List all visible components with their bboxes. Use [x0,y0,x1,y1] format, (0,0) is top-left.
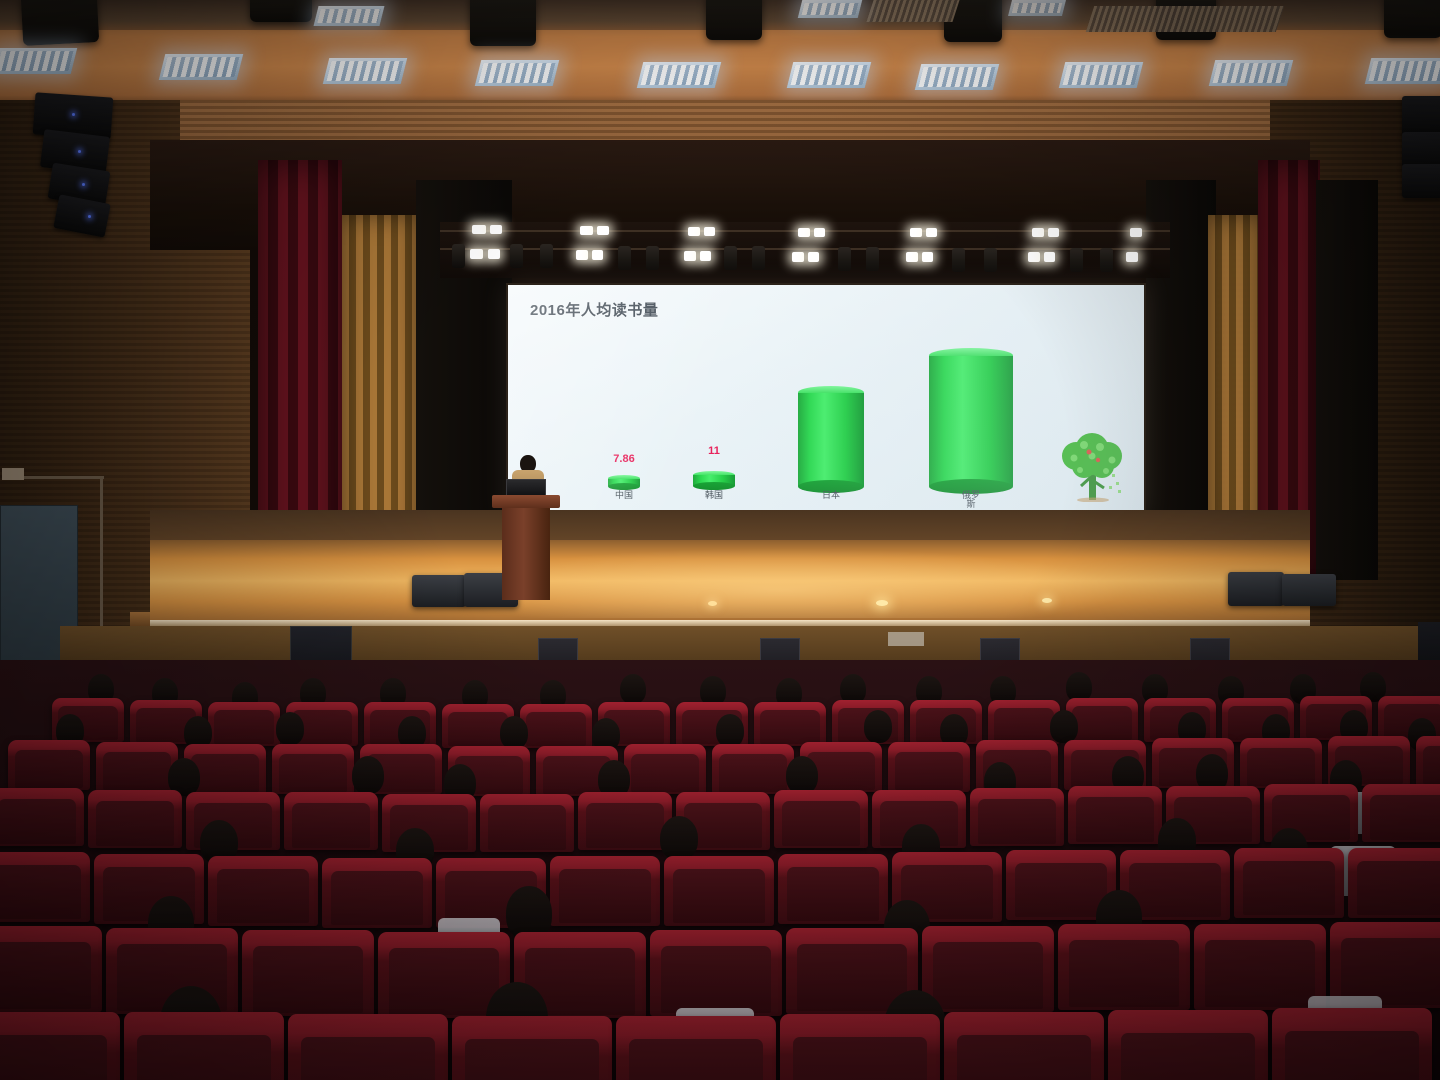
stage-lamp [1028,252,1040,262]
speaker-led [78,150,81,153]
stage-lamp [700,251,711,261]
bar-cylinder [693,471,735,486]
stage-lamp [926,228,937,237]
theater-seat[interactable] [664,856,774,926]
theater-seat[interactable] [650,930,782,1016]
stage-lamp [906,252,918,262]
theater-seat[interactable] [1058,924,1190,1010]
theater-seat[interactable] [1108,1010,1268,1080]
stage-lamp [814,228,825,237]
ceiling-light-panel [1008,0,1066,16]
stage-light-fixture [724,246,737,270]
gold-curtain-right [1208,215,1262,560]
ceiling-light-panel [314,6,385,26]
theater-seat[interactable] [452,1016,612,1080]
bar-category-label: 中国 [611,491,637,500]
ceiling-duct [706,0,762,40]
podium-top [492,495,560,508]
ceiling-light-panel [159,54,243,80]
stage-light-truss [440,222,1170,278]
bar-chart: 7.86 中国 11 韩国 [508,326,1144,516]
theater-seat[interactable] [8,740,90,790]
bar-group: 7.86 中国 [604,475,644,486]
audience-seating [0,660,1440,1080]
theater-seat[interactable] [754,702,826,746]
stage-light-fixture [1070,248,1083,272]
ceiling-light-panel [915,64,999,90]
stage-light-fixture [752,246,765,270]
audience-head [620,674,646,704]
theater-seat[interactable] [0,788,84,846]
stage-monitor-speaker [1228,572,1284,606]
ceiling-duct [250,0,312,22]
theater-seat[interactable] [624,744,706,794]
bar-category-label: 日本 [818,491,844,500]
stage-light-fixture [984,248,997,272]
theater-seat[interactable] [208,702,280,746]
stage-lamp [470,249,483,259]
stage-light-fixture [510,244,523,268]
theater-seat[interactable] [288,1014,448,1080]
stage-light-fixture [952,248,965,272]
ceiling-light-panel [1209,60,1293,86]
theater-seat[interactable] [520,704,592,748]
theater-seat[interactable] [1348,848,1440,918]
projection-screen: 2016年人均读书量 7.86 中国 11 [506,283,1146,518]
ceiling-light-panel [475,60,559,86]
footlight-spot [1042,598,1052,603]
theater-seat[interactable] [0,926,102,1012]
stage-light-fixture [618,246,631,270]
theater-seat[interactable] [616,1016,776,1080]
bar-group: 55 俄罗斯 [926,348,1016,486]
theater-seat[interactable] [922,926,1054,1012]
slide-title: 2016年人均读书量 [530,299,658,320]
bar-group: 40 日本 [795,386,867,486]
speaker-led [82,183,85,186]
stage-lamp [688,227,700,236]
theater-seat[interactable] [124,1012,284,1080]
stage-lamp [576,250,588,260]
stage-lamp [1126,252,1138,262]
stage-lamp [798,228,810,237]
stage-lamp [597,226,609,235]
cylinder-body [929,356,1013,486]
conduit-box [2,468,24,480]
presentation-slide: 2016年人均读书量 7.86 中国 11 [508,285,1144,516]
ceiling-light-panel [637,62,721,88]
ceiling-light-panel [0,48,77,74]
bar-cylinder [798,386,864,486]
theater-seat[interactable] [1416,736,1440,786]
bar-category-label: 俄罗斯 [958,491,984,509]
theater-seat[interactable] [88,790,182,848]
gold-curtain-left [342,215,416,560]
ceiling-light-panel [798,0,862,18]
ceiling-light-panel [1365,58,1440,84]
speaker-box [1402,132,1440,168]
theater-seat[interactable] [888,742,970,792]
theater-seat[interactable] [284,792,378,850]
theater-seat[interactable] [208,856,318,926]
stage-light-fixture [540,244,553,268]
stage-lamp [472,225,486,234]
audience-head [786,756,818,794]
cylinder-bottom [608,483,640,490]
theater-seat[interactable] [96,742,178,792]
theater-seat[interactable] [944,1012,1104,1080]
audience-head [276,712,304,745]
stage-lamp [580,226,593,235]
theater-seat[interactable] [550,856,660,926]
stage-lamp [704,227,715,236]
line-array-speaker-right [1402,96,1440,246]
stage-lamp [1044,252,1055,262]
speaker-led [88,215,91,218]
theater-seat[interactable] [272,744,354,794]
speaker-box [1402,164,1440,198]
theater-seat[interactable] [242,930,374,1016]
speaker-box [1402,96,1440,136]
audience-head [864,710,892,743]
footlight-spot [708,601,717,606]
audience-head [500,716,528,749]
stage-lamp [1130,228,1142,237]
ceiling-duct [1384,0,1440,38]
ceiling-vent [866,0,959,22]
ceiling-light-panel [323,58,407,84]
ceiling-duct [470,0,536,46]
audience-head [660,816,698,860]
audience-head [1050,710,1078,743]
theater-seat[interactable] [1240,738,1322,788]
stage-light-fixture [866,247,879,271]
stage-lamp [684,251,696,261]
stage-lamp [910,228,922,237]
dark-curtain-far-right [1316,180,1378,580]
ceiling-light-panel [1059,62,1143,88]
stage-lamp [1032,228,1044,237]
theater-seat[interactable] [0,1012,120,1080]
wall-conduit [18,476,104,479]
stage-monitor-speaker [412,575,466,607]
bar-category-label: 韩国 [701,491,727,500]
bar-value-label: 11 [708,445,720,457]
bar-cylinder [608,475,640,486]
theater-seat[interactable] [970,788,1064,846]
theater-seat[interactable] [322,858,432,928]
stage-lamp [490,225,502,234]
stage-monitor-speaker [1282,574,1336,606]
ceiling-vent [1086,6,1284,32]
stage-front-plate [888,632,924,646]
cylinder-bottom [693,482,735,490]
stage-light-fixture [838,247,851,271]
stage-lamp [792,252,804,262]
stage-light-fixture [646,246,659,270]
theater-seat[interactable] [480,794,574,852]
bar-group: 11 韩国 [690,471,738,486]
auditorium-scene: 2016年人均读书量 7.86 中国 11 [0,0,1440,1080]
footlight-spot [876,600,888,606]
podium [492,495,560,600]
ceiling-light-panel [787,62,871,88]
stage-lamp [488,249,500,259]
cylinder-body [798,393,864,486]
theater-seat[interactable] [1362,784,1440,842]
stage-light-fixture [1100,248,1113,272]
bar-value-label: 7.86 [613,453,634,465]
theater-seat[interactable] [988,700,1060,744]
stage-lamp [808,252,819,262]
theater-seat[interactable] [778,854,888,924]
theater-seat[interactable] [578,792,672,850]
theater-seat[interactable] [1234,848,1344,918]
theater-seat[interactable] [1272,1008,1432,1080]
stage-lamp [922,252,933,262]
stage-lamp [1048,228,1059,237]
theater-seat[interactable] [774,790,868,848]
theater-seat[interactable] [780,1014,940,1080]
line-array-speaker-left [30,95,140,265]
speaker-led [72,113,75,116]
stage-light-fixture [452,244,465,268]
audience-head [716,714,744,747]
theater-seat[interactable] [712,744,794,794]
theater-seat[interactable] [0,852,90,922]
stage-lamp [592,250,603,260]
theater-seat[interactable] [1068,786,1162,844]
bar-cylinder [929,348,1013,486]
theater-seat[interactable] [1194,924,1326,1010]
ceiling-duct [21,0,100,46]
audience-head [352,756,384,794]
podium-body [502,508,550,600]
tree-icon [1054,430,1132,502]
